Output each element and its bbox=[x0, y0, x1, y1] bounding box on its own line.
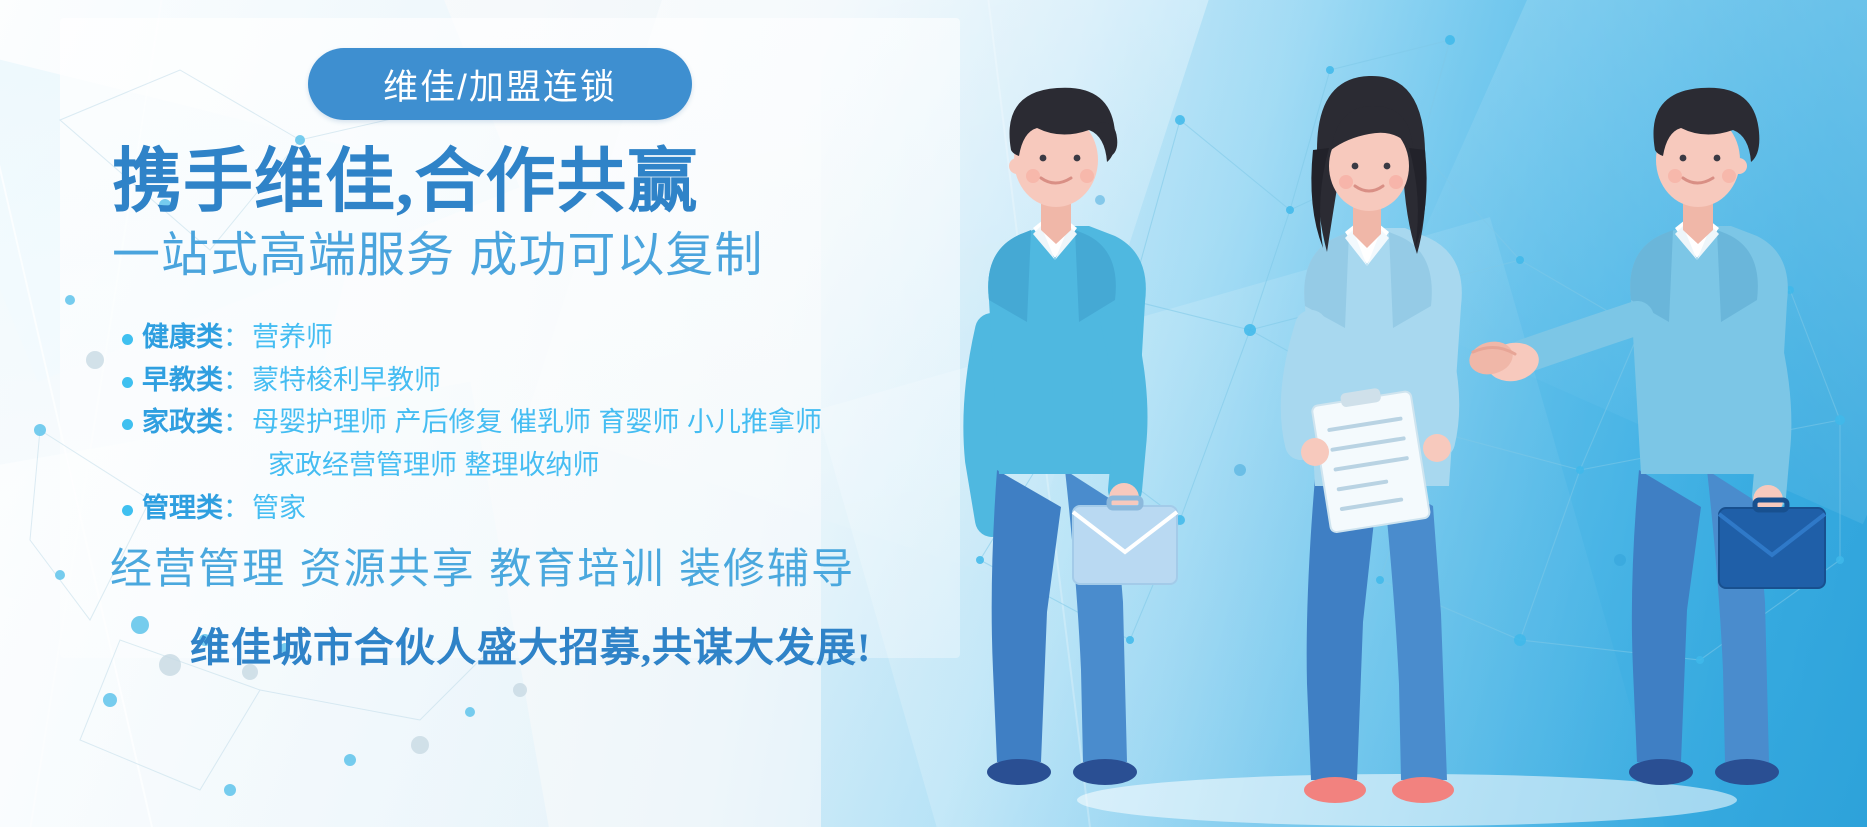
service-category-list: 健康类 ： 营养师 早教类 ： 蒙特梭利早教师 家政类 ： 母婴护理师 产后修复… bbox=[122, 320, 942, 533]
recruitment-tagline: 维佳城市合伙人盛大招募,共谋大发展! bbox=[190, 628, 871, 668]
category-label: 管理类 bbox=[142, 491, 223, 527]
category-value: 管家 bbox=[252, 491, 306, 527]
list-item: 健康类 ： 营养师 bbox=[122, 320, 942, 356]
figure-man-right bbox=[1525, 88, 1825, 785]
support-services-line: 经营管理 资源共享 教育培训 装修辅导 bbox=[110, 548, 855, 590]
briefcase-right bbox=[1719, 500, 1825, 588]
promo-banner: 维佳/加盟连锁 携手维佳,合作共赢 一站式高端服务 成功可以复制 健康类 ： 营… bbox=[0, 0, 1867, 827]
bullet-dot-icon bbox=[122, 419, 133, 430]
figure-woman-center bbox=[1297, 76, 1462, 803]
category-value: 母婴护理师 产后修复 催乳师 育婴师 小儿推拿师 bbox=[252, 405, 822, 441]
category-value: 营养师 bbox=[252, 320, 333, 356]
clipboard bbox=[1310, 383, 1430, 533]
business-people-illustration bbox=[937, 0, 1867, 827]
brand-badge-label: 维佳/加盟连锁 bbox=[383, 59, 617, 110]
category-separator: ： bbox=[223, 405, 250, 441]
category-label: 健康类 bbox=[142, 320, 223, 356]
list-item: 早教类 ： 蒙特梭利早教师 bbox=[122, 363, 942, 399]
category-value: 蒙特梭利早教师 bbox=[252, 363, 441, 399]
bullet-dot-icon bbox=[122, 505, 133, 516]
banner-content: 维佳/加盟连锁 携手维佳,合作共赢 一站式高端服务 成功可以复制 健康类 ： 营… bbox=[0, 0, 960, 827]
briefcase-left bbox=[1073, 498, 1177, 584]
list-item: 家政类 ： 母婴护理师 产后修复 催乳师 育婴师 小儿推拿师 bbox=[122, 405, 942, 441]
category-separator: ： bbox=[223, 320, 250, 356]
bullet-dot-icon bbox=[122, 334, 133, 345]
list-item: 管理类 ： 管家 bbox=[122, 491, 942, 527]
page-subtitle: 一站式高端服务 成功可以复制 bbox=[112, 232, 763, 280]
brand-badge[interactable]: 维佳/加盟连锁 bbox=[308, 48, 692, 120]
category-label: 早教类 bbox=[142, 363, 223, 399]
page-title: 携手维佳,合作共赢 bbox=[112, 148, 699, 218]
category-separator: ： bbox=[223, 363, 250, 399]
figure-man-left bbox=[980, 88, 1177, 785]
bullet-dot-icon bbox=[122, 377, 133, 388]
category-label: 家政类 bbox=[142, 405, 223, 441]
category-value-continued: 家政经营管理师 整理收纳师 bbox=[268, 448, 942, 484]
category-separator: ： bbox=[223, 491, 250, 527]
